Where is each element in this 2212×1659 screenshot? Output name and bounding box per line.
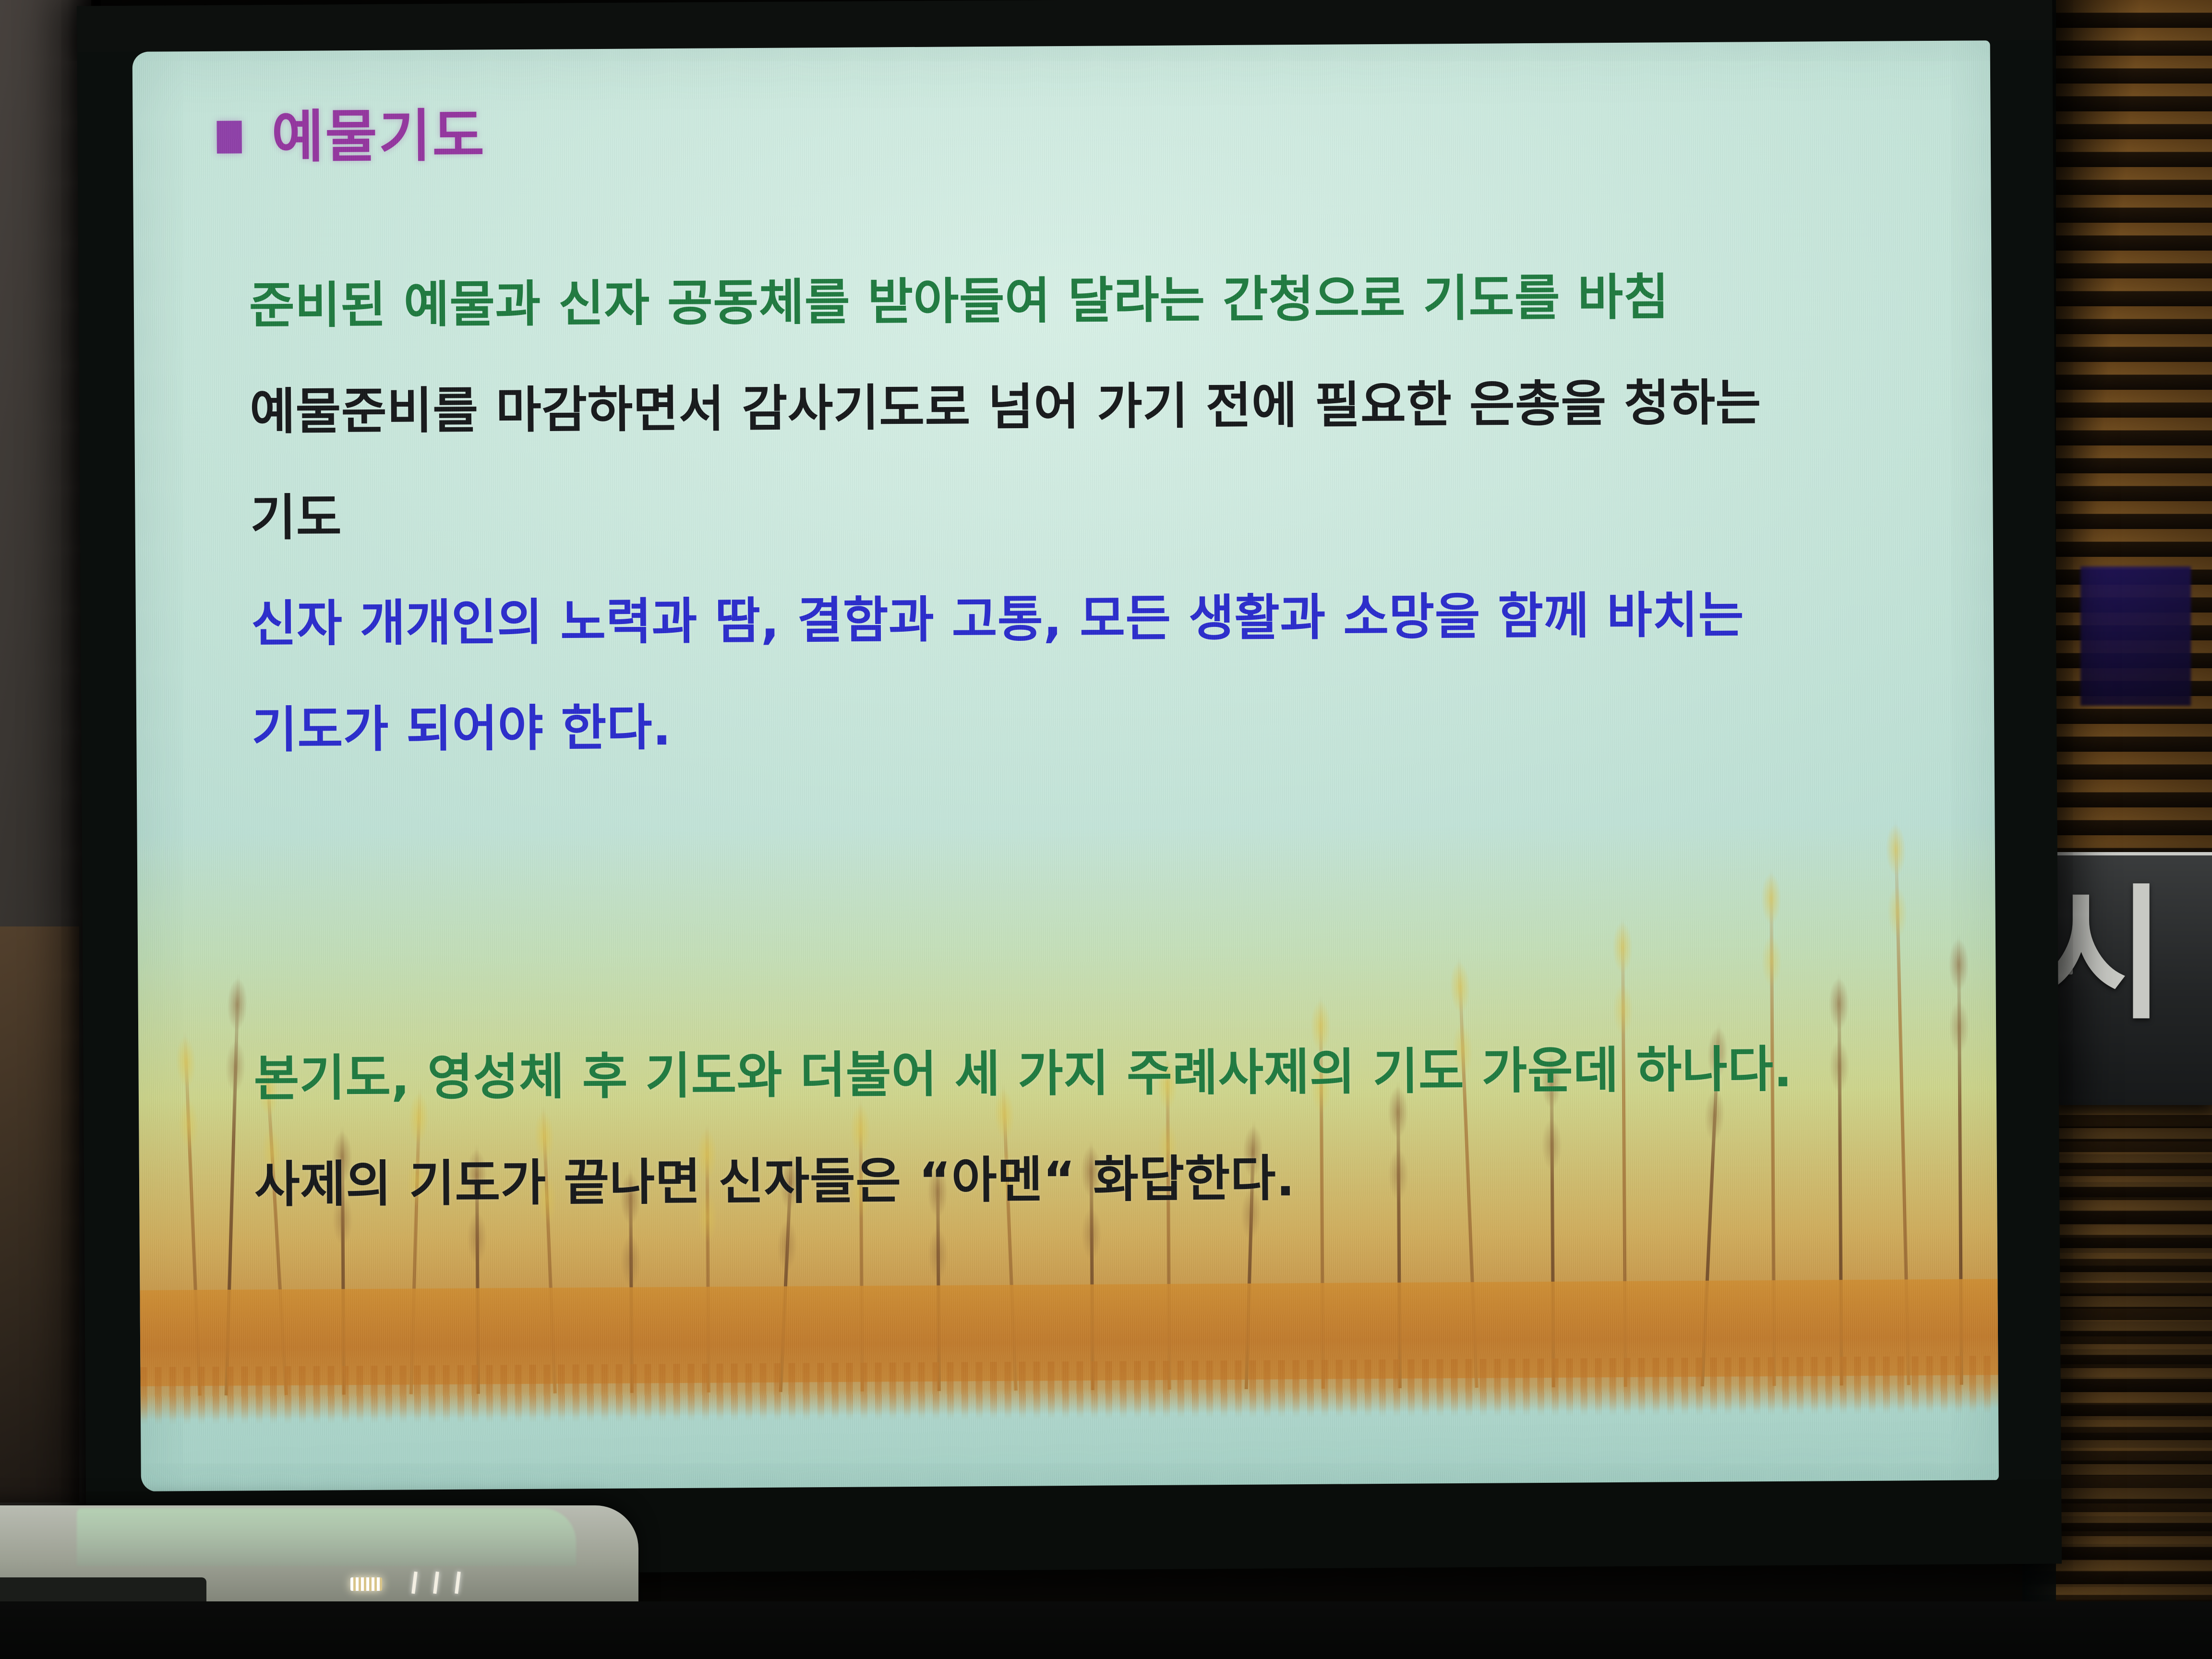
sign-text: 시: [2054, 883, 2169, 1027]
projection-screen-frame: 예물기도 준비된 예물과 신자 공동체를 받아들여 달라는 간청으로 기도를 바…: [77, 0, 2062, 1576]
projector-indicator: [411, 1572, 418, 1594]
slide-line: 신자 개개인의 노력과 땀, 결함과 고통, 모든 생활과 소망을 함께 바치는: [251, 589, 1999, 649]
slide-line: 기도: [250, 483, 1998, 543]
wall-sign: 시: [2054, 852, 2212, 1105]
slide-line: 본기도, 영성체 후 기도와 더불어 세 가지 주례사제의 기도 가운데 하나다…: [253, 1044, 1998, 1104]
photo-scene: 시: [0, 0, 2212, 1659]
square-bullet-icon: [217, 121, 242, 154]
slide-upper-text-block: 준비된 예물과 신자 공동체를 받아들여 달라는 간청으로 기도를 바침 예물준…: [249, 271, 1999, 812]
slide-line: 사제의 기도가 끝나면 신자들은 “아멘“ 화답한다.: [254, 1150, 1999, 1210]
projector-top-reflection: [77, 1508, 576, 1566]
slide-line: 준비된 예물과 신자 공동체를 받아들여 달라는 간청으로 기도를 바침: [249, 271, 1997, 331]
slide-title-row: 예물기도: [216, 107, 486, 165]
projector-status-led: [350, 1577, 382, 1591]
projector-indicator: [455, 1572, 461, 1594]
slide-content: 예물기도 준비된 예물과 신자 공동체를 받아들여 달라는 간청으로 기도를 바…: [132, 40, 1999, 1492]
projector-indicator: [433, 1572, 439, 1594]
slide-line: 기도가 되어야 한다.: [252, 695, 1999, 755]
floor-shadow: [0, 1601, 2212, 1659]
slide-lower-text-block: 본기도, 영성체 후 기도와 더불어 세 가지 주례사제의 기도 가운데 하나다…: [253, 1044, 1998, 1266]
slide-title: 예물기도: [271, 107, 486, 165]
slide-line: 예물준비를 마감하면서 감사기도로 넘어 가기 전에 필요한 은총을 청하는: [250, 377, 1997, 437]
projected-slide: 예물기도 준비된 예물과 신자 공동체를 받아들여 달라는 간청으로 기도를 바…: [132, 40, 1999, 1492]
